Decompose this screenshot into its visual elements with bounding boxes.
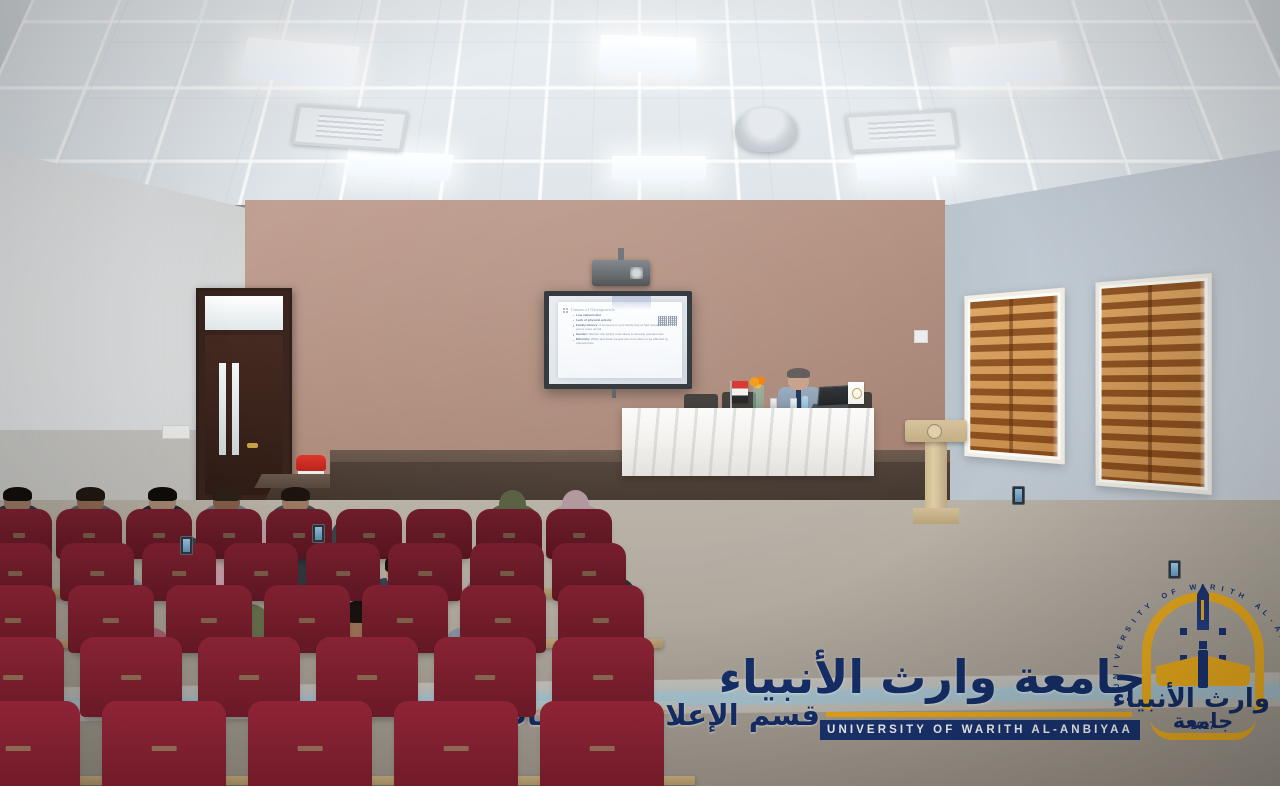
audience-phone [1168, 560, 1181, 579]
door-transom-window [205, 296, 283, 330]
flowers [748, 375, 769, 389]
podium-base [913, 508, 959, 524]
ceiling-fan [735, 108, 797, 152]
tablecloth-folds [622, 408, 874, 476]
podium-column [925, 440, 947, 510]
wall-outlet [914, 330, 928, 343]
seal-arc-char: L [1261, 608, 1271, 618]
projection-screen: Causes of Osteoporosis Low calcium dietL… [544, 291, 692, 389]
seal-year: 2017 [1136, 720, 1270, 732]
seal-arc-char: T [1135, 608, 1145, 618]
window-blind[interactable] [1102, 281, 1205, 487]
air-conditioner-cassette [845, 109, 959, 153]
seal-arc-char: F [1170, 587, 1178, 597]
podium-lectern-top [905, 420, 967, 442]
light-switch-plate[interactable] [162, 425, 190, 439]
lecture-hall-photo: Causes of Osteoporosis Low calcium dietL… [0, 0, 1280, 786]
projector-lens [630, 267, 643, 279]
ceiling-light-panel [346, 149, 455, 180]
door-glass-slit [232, 363, 239, 455]
window-light-glow [1199, 277, 1209, 490]
auditorium-seat [0, 704, 76, 786]
audience-hair [76, 487, 105, 501]
ceiling-light-panel [612, 156, 706, 180]
university-seal: UNIVERSITY OF WARITH AL-ANBIYAA وارث الأ… [1136, 578, 1270, 744]
podium[interactable] [905, 420, 967, 530]
slide-bullet: Family History: If someone in your famil… [573, 324, 677, 332]
window-light-glow [1053, 292, 1063, 460]
phone-screen [1015, 489, 1022, 502]
phone-screen [1171, 563, 1178, 576]
seal-arc-char: W [1189, 582, 1197, 592]
iraqi-flag [732, 381, 748, 403]
ceiling [0, 0, 1280, 205]
trash-bin-lid [296, 455, 326, 471]
podium-emblem-icon [927, 424, 942, 439]
audience-phone [1012, 486, 1025, 505]
audience-hair [3, 487, 32, 501]
audience-phone [312, 524, 325, 543]
auditorium-seat [544, 704, 660, 786]
seal-arc-char: Y [1143, 601, 1153, 611]
entrance-door[interactable] [196, 288, 292, 503]
seal-book-spine-icon [1198, 650, 1208, 688]
window-right [1095, 273, 1211, 495]
seal-arc-char: A [1253, 601, 1263, 612]
seal-pen-icon [1197, 584, 1209, 630]
screen-glare [612, 296, 651, 310]
auditorium-seat [398, 704, 514, 786]
door-handle[interactable] [247, 443, 258, 448]
window-left [964, 288, 1064, 465]
screen-surface: Causes of Osteoporosis Low calcium dietL… [549, 296, 687, 384]
head-table [622, 408, 874, 476]
window-blind[interactable] [970, 295, 1057, 456]
phone-screen [315, 527, 322, 540]
door-leaves [205, 335, 283, 495]
university-flag [848, 382, 864, 404]
audience-hair [148, 487, 177, 501]
air-conditioner-cassette [291, 104, 408, 152]
audience-hair [212, 487, 241, 501]
ceiling-projector [592, 260, 650, 286]
slide-logo-icon [563, 308, 568, 313]
audience-hair [281, 487, 310, 501]
university-wordmark: جامعة وارث الأنبياء UNIVERSITY OF WARITH… [816, 646, 1146, 750]
seal-arc-char: O [1160, 590, 1169, 601]
presenter-hair [787, 368, 810, 378]
slide-bullet: Ethnicity: White and Asian people are mo… [573, 338, 677, 346]
ceiling-light-panel [854, 149, 958, 180]
door-glass-slit [219, 363, 226, 455]
audience-phone [180, 536, 193, 555]
university-name-arabic: جامعة وارث الأنبياء [816, 646, 1146, 712]
ceiling-light-panel [599, 34, 696, 73]
seal-arc-char: N [1111, 673, 1120, 679]
slide-bullet-list: Low calcium dietLack of physical activit… [573, 314, 677, 346]
seal-arc-char: I [1221, 584, 1225, 593]
seal-arc-char: R [1210, 582, 1217, 592]
wordmark-gold-rule [826, 712, 1132, 717]
phone-screen [183, 539, 190, 552]
ceiling-light-panel [949, 40, 1064, 86]
auditorium-seat [106, 704, 222, 786]
university-name-english: UNIVERSITY OF WARITH AL-ANBIYAA [820, 720, 1140, 740]
auditorium-seat [252, 704, 368, 786]
screen-mount [612, 389, 616, 398]
laptop-screen[interactable] [817, 385, 851, 407]
seal-arc-char: H [1237, 590, 1246, 601]
presentation-slide: Causes of Osteoporosis Low calcium dietL… [558, 302, 682, 378]
seal-arc-char: T [1229, 587, 1237, 597]
